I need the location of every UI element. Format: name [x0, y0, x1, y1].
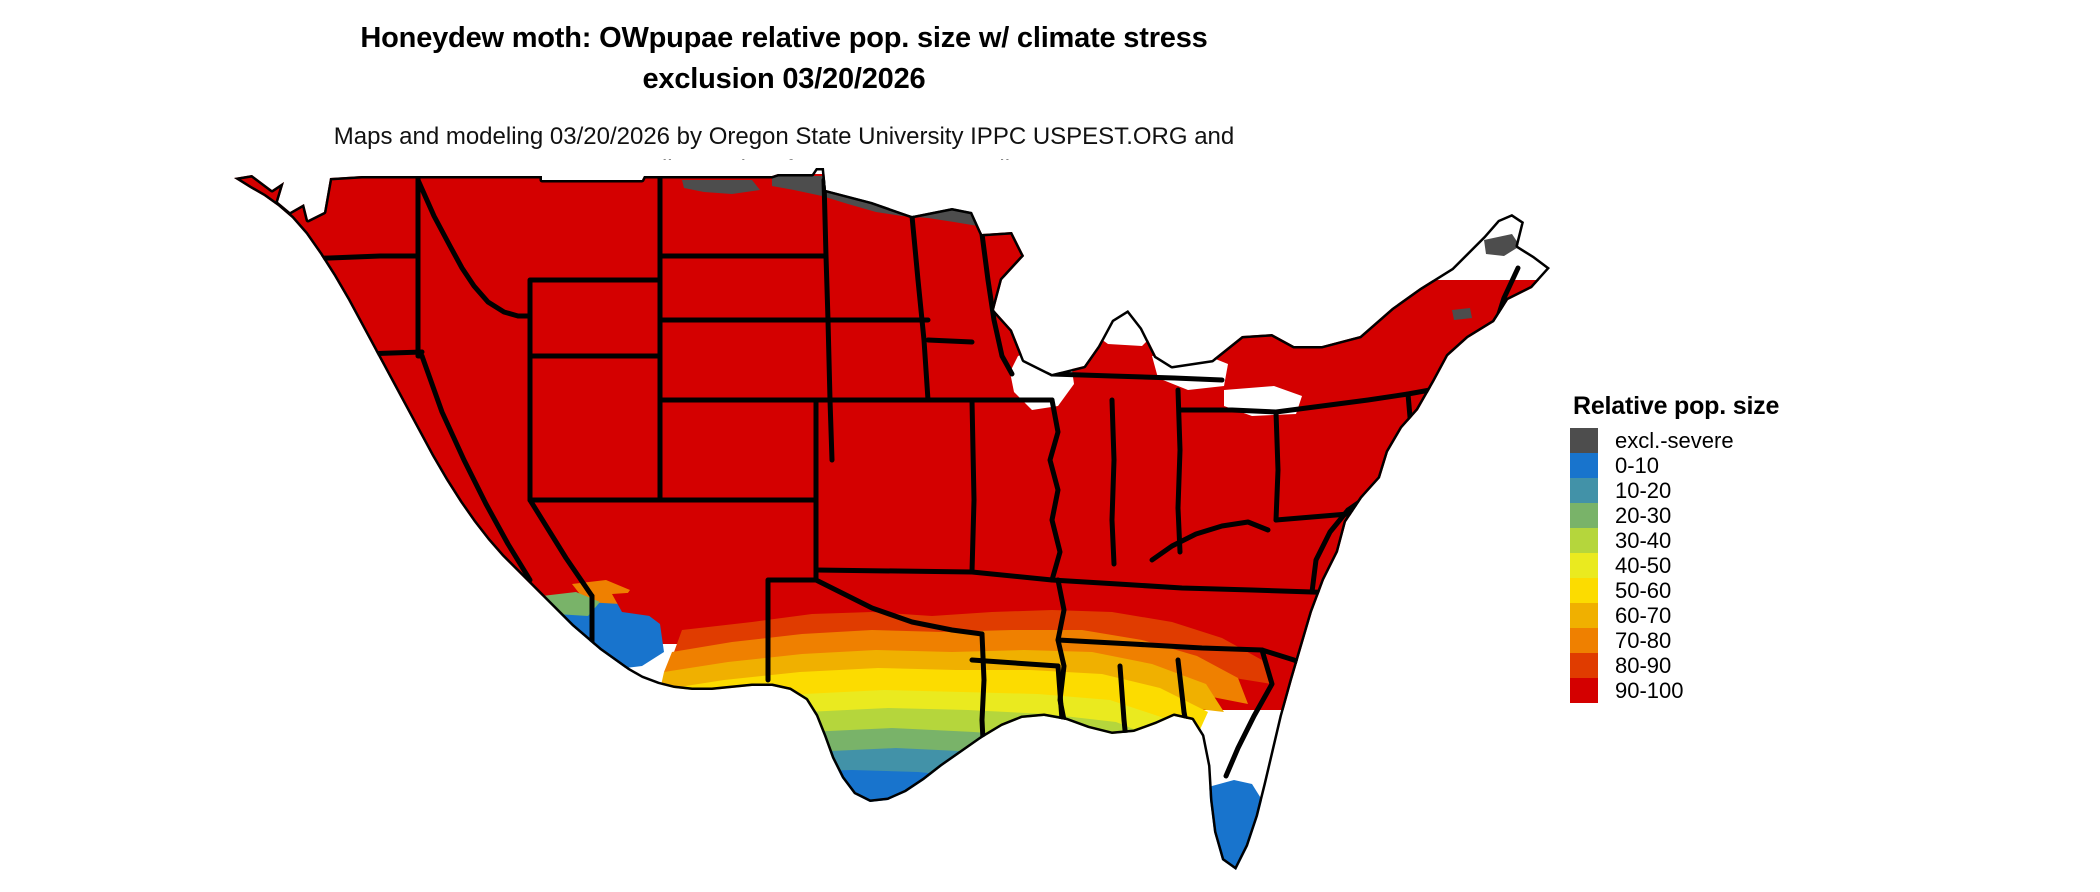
legend-label-20-30: 20-30	[1615, 503, 1671, 528]
legend-item-40-50[interactable]: 40-50	[1570, 553, 1900, 578]
legend-swatch-40-50	[1570, 553, 1598, 578]
legend-label-10-20: 10-20	[1615, 478, 1671, 503]
subtitle-line-1: Maps and modeling 03/20/2026 by Oregon S…	[0, 120, 1568, 153]
title-line-2: exclusion 03/20/2026	[0, 59, 1568, 100]
legend-label-40-50: 40-50	[1615, 553, 1671, 578]
legend-swatch-30-40	[1570, 528, 1598, 553]
legend-swatch-20-30	[1570, 503, 1598, 528]
us-map-svg	[212, 160, 1572, 886]
legend-swatch-70-80	[1570, 628, 1598, 653]
title-line-1: Honeydew moth: OWpupae relative pop. siz…	[0, 18, 1568, 59]
legend-item-70-80[interactable]: 70-80	[1570, 628, 1900, 653]
legend-item-0-10[interactable]: 0-10	[1570, 453, 1900, 478]
legend-swatch-90-100	[1570, 678, 1598, 703]
legend-swatch-excl-severe	[1570, 428, 1598, 453]
legend-item-90-100[interactable]: 90-100	[1570, 678, 1900, 703]
legend-label-50-60: 50-60	[1615, 578, 1671, 603]
legend-swatch-0-10	[1570, 453, 1598, 478]
legend-swatch-60-70	[1570, 603, 1598, 628]
legend-title: Relative pop. size	[1573, 392, 1900, 421]
legend-swatch-50-60	[1570, 578, 1598, 603]
legend-item-50-60[interactable]: 50-60	[1570, 578, 1900, 603]
region-excl-severe-maine-2	[1452, 308, 1472, 320]
legend-item-list: excl.-severe 0-10 10-20 20-30 30-40 40-5	[1570, 428, 1900, 703]
legend-swatch-80-90	[1570, 653, 1598, 678]
legend-item-10-20[interactable]: 10-20	[1570, 478, 1900, 503]
legend-label-80-90: 80-90	[1615, 653, 1671, 678]
legend-item-excl-severe[interactable]: excl.-severe	[1570, 428, 1900, 453]
page-title: Honeydew moth: OWpupae relative pop. siz…	[0, 18, 1568, 100]
legend-label-60-70: 60-70	[1615, 603, 1671, 628]
legend-item-20-30[interactable]: 20-30	[1570, 503, 1900, 528]
map-legend: Relative pop. size excl.-severe 0-10 10-…	[1570, 392, 1900, 703]
legend-label-90-100: 90-100	[1615, 678, 1684, 703]
legend-item-80-90[interactable]: 80-90	[1570, 653, 1900, 678]
legend-label-0-10: 0-10	[1615, 453, 1659, 478]
map-page: Honeydew moth: OWpupae relative pop. siz…	[0, 0, 2100, 892]
legend-item-30-40[interactable]: 30-40	[1570, 528, 1900, 553]
legend-label-30-40: 30-40	[1615, 528, 1671, 553]
legend-item-60-70[interactable]: 60-70	[1570, 603, 1900, 628]
legend-label-excl-severe: excl.-severe	[1615, 428, 1734, 453]
choropleth-map	[212, 160, 1572, 886]
legend-label-70-80: 70-80	[1615, 628, 1671, 653]
legend-swatch-10-20	[1570, 478, 1598, 503]
